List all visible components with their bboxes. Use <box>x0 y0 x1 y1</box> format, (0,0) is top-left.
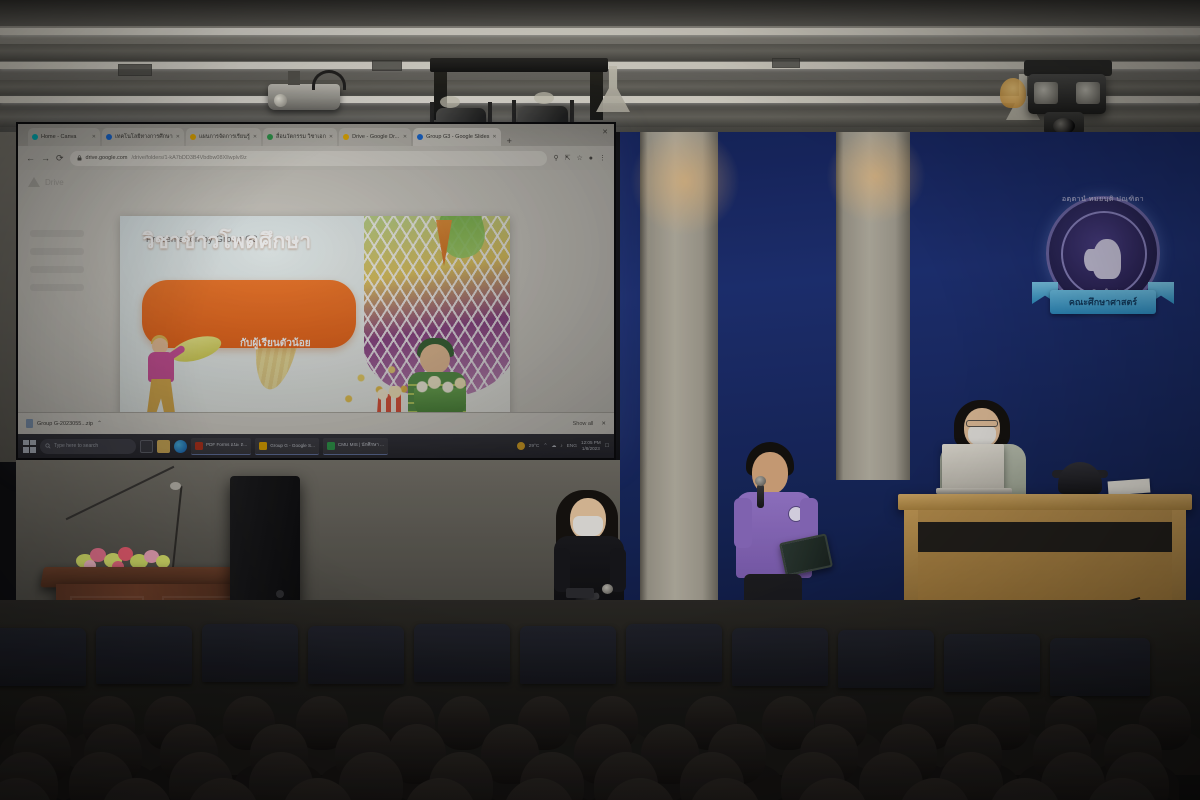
reload-icon[interactable]: ⟳ <box>56 153 64 164</box>
auditorium-scene: อตฺตานํ ทมยนฺติ ปณฺฑิตา มหาวิทยาลัยเชียง… <box>0 0 1200 800</box>
auditorium-seat <box>944 634 1040 692</box>
ceiling-vent <box>772 58 800 68</box>
windows-taskbar[interactable]: Type here to search PDF Forms แนะ ถ...Gr… <box>18 434 614 458</box>
show-all-downloads-button[interactable]: Show all <box>573 421 594 427</box>
desk-top <box>898 494 1192 510</box>
file-explorer-icon[interactable] <box>157 440 170 453</box>
ceiling-vent <box>372 60 402 71</box>
left-wall-edge <box>0 132 16 462</box>
browser-tab[interactable]: Group G3 - Google Slides✕ <box>413 128 501 146</box>
taskbar-app-button[interactable]: PDF Forms แนะ ถ... <box>191 438 251 455</box>
close-tab-icon[interactable]: ✕ <box>329 134 333 140</box>
cable-coil <box>440 96 460 108</box>
system-tray[interactable]: 29°C ⌃ ☁ ♪ ENG 12:05 PM 1/8/2023 ☐ <box>517 440 609 451</box>
camera-panel-right <box>1076 82 1100 104</box>
lock-icon <box>77 155 82 161</box>
search-placeholder: Type here to search <box>54 443 98 449</box>
sidebar-placeholder-row <box>30 248 84 255</box>
papers-stack <box>1108 479 1151 496</box>
banner-label: คณะศึกษาศาสตร์ <box>1050 295 1156 309</box>
network-icon[interactable]: ☁ <box>551 444 556 449</box>
presenter-male-microphone <box>757 484 764 508</box>
clock-date: 1/8/2023 <box>581 446 601 452</box>
star-icon[interactable]: ☆ <box>576 154 582 162</box>
weather-sun-icon[interactable] <box>517 442 525 450</box>
drive-page: Drive Presentation by Group G3 วิชาข้าวโ… <box>18 170 614 446</box>
close-tab-icon[interactable]: ✕ <box>492 134 496 140</box>
tray-temperature: 29°C <box>529 444 540 449</box>
ceiling-shadow-band <box>0 0 1200 26</box>
presenter-female-arm-right <box>610 548 626 592</box>
browser-tabstrip[interactable]: Home - Canva✕เทคโนโลยีทางการศึกษา✕แผนการ… <box>18 124 614 146</box>
ptz-camera-body <box>1028 74 1106 114</box>
close-tab-icon[interactable]: ✕ <box>403 134 407 140</box>
taskbar-app-button[interactable]: CMU MIS | นักศึกษา ... <box>323 438 388 455</box>
presenter-male-arm-left <box>734 498 752 548</box>
emblem-banner: คณะศึกษาศาสตร์ <box>1032 282 1174 316</box>
camera-panel-left <box>1034 82 1058 104</box>
lighting-truss <box>430 58 608 72</box>
edge-icon[interactable] <box>174 440 187 453</box>
projection-screen: Home - Canva✕เทคโนโลยีทางการศึกษา✕แผนการ… <box>18 124 614 458</box>
sidebar-placeholder-row <box>30 284 84 291</box>
tab-favicon-icon <box>106 134 112 140</box>
instructor-face-mask <box>968 426 996 445</box>
forward-icon[interactable]: → <box>41 153 50 163</box>
browser-tab-label: Group G3 - Google Slides <box>426 134 489 140</box>
tab-favicon-icon <box>343 134 349 140</box>
cable-coil <box>534 92 554 104</box>
truss-drop-right <box>590 72 603 120</box>
ceiling-vent <box>118 64 152 76</box>
browser-tab[interactable]: Drive - Google Dr...✕ <box>339 128 411 146</box>
pilaster-light-glow <box>826 128 926 224</box>
presenter-female-mic-head-icon <box>602 584 613 594</box>
browser-tab[interactable]: แผนการจัดการเรียนรู้✕ <box>186 128 261 146</box>
search-input[interactable]: Type here to search <box>40 439 136 454</box>
browser-tab-label: เทคโนโลยีทางการศึกษา <box>115 133 173 141</box>
chevron-up-icon[interactable]: ⌃ <box>543 444 547 449</box>
start-icon[interactable] <box>23 440 36 453</box>
omnibox[interactable]: drive.google.com/drive/folders/1-kA7bDD3… <box>70 151 548 166</box>
auditorium-seat <box>96 626 192 684</box>
popcorn-pile <box>412 376 468 394</box>
action-center-icon[interactable]: ☐ <box>605 444 609 449</box>
auditorium-seat <box>838 630 934 688</box>
taskbar-app-list[interactable]: PDF Forms แนะ ถ...Group G - Google S...C… <box>191 438 388 455</box>
browser-tab-label: สื่อนวัตกรรม วิชาเอก <box>276 133 326 141</box>
browser-tab[interactable]: เทคโนโลยีทางการศึกษา✕ <box>102 128 184 146</box>
download-item[interactable]: Group G-2023055...zip ⌃ <box>26 419 102 428</box>
projection-screen-frame: Home - Canva✕เทคโนโลยีทางการศึกษา✕แผนการ… <box>16 122 616 460</box>
taskbar-app-button[interactable]: Group G - Google S... <box>255 438 319 455</box>
tray-language[interactable]: ENG <box>567 444 577 449</box>
chevron-up-icon[interactable]: ⌃ <box>97 420 102 427</box>
new-tab-button[interactable]: + <box>503 136 516 146</box>
menu-icon[interactable]: ⋮ <box>599 154 606 162</box>
auditorium-seat <box>626 624 722 682</box>
tab-favicon-icon <box>190 134 196 140</box>
browser-tab[interactable]: Home - Canva✕ <box>28 128 100 146</box>
taskbar-app-label: Group G - Google S... <box>270 443 315 448</box>
back-icon[interactable]: ← <box>26 153 35 163</box>
tab-favicon-icon <box>267 134 273 140</box>
drive-app-name: Drive <box>45 178 64 187</box>
desk-inset-upper <box>916 522 1174 552</box>
audience-area <box>0 600 1200 800</box>
pilaster-light-glow <box>630 126 740 236</box>
taskbar-app-label: CMU MIS | นักศึกษา ... <box>338 442 384 449</box>
sidebar-placeholder-row <box>30 230 84 237</box>
sidebar-placeholder-row <box>30 266 84 273</box>
auditorium-seat <box>308 626 404 684</box>
university-emblem: อตฺตานํ ทมยนฺติ ปณฺฑิตา มหาวิทยาลัยเชียง… <box>1032 196 1174 316</box>
presenter-female-notes <box>566 588 594 598</box>
taskbar-app-icon <box>259 442 267 450</box>
share-icon[interactable]: ⇱ <box>565 154 571 162</box>
eater-head <box>420 344 450 374</box>
search-icon <box>45 443 51 449</box>
presenter-female-face-mask <box>573 516 603 536</box>
taskbar-app-icon <box>327 442 335 450</box>
auditorium-seat <box>520 626 616 684</box>
search-icon[interactable]: ⚲ <box>553 154 558 162</box>
browser-urlbar: ← → ⟳ drive.google.com/drive/folders/1-k… <box>18 146 614 170</box>
slide-title: วิชาข้าวโพดศึกษา <box>120 225 334 258</box>
window-close-button[interactable]: ✕ <box>602 128 608 136</box>
presenter-male-mic-head-icon <box>755 476 766 486</box>
close-tab-icon[interactable]: ✕ <box>176 134 180 140</box>
auditorium-seat <box>202 624 298 682</box>
emblem-motto-top: อตฺตานํ ทมยนฺติ ปณฺฑิตา <box>1032 194 1174 205</box>
close-tab-icon[interactable]: ✕ <box>92 134 96 140</box>
laptop-screen[interactable] <box>942 444 1004 490</box>
tab-favicon-icon <box>32 134 38 140</box>
popcorn-box-kernels <box>374 386 408 400</box>
instructor-glasses-icon <box>966 420 998 427</box>
presenter-female-arm-left <box>554 548 570 592</box>
browser-tab-label: แผนการจัดการเรียนรู้ <box>199 133 250 141</box>
omnibox-host: drive.google.com <box>86 155 128 161</box>
browser-tab[interactable]: สื่อนวัตกรรม วิชาเอก✕ <box>263 128 337 146</box>
zip-file-icon <box>26 419 33 428</box>
download-shelf-actions: Show all ✕ <box>573 421 606 427</box>
browser-chrome: Home - Canva✕เทคโนโลยีทางการศึกษา✕แผนการ… <box>18 124 614 170</box>
volume-icon[interactable]: ♪ <box>560 444 562 449</box>
floor-pa-speaker <box>230 476 300 608</box>
slide-subtitle: กับผู้เรียนตัวน้อย <box>240 336 410 351</box>
browser-tab-label: Drive - Google Dr... <box>352 134 399 140</box>
podium-microphone-icon <box>170 482 181 490</box>
auditorium-seat <box>732 628 828 686</box>
drive-logo-icon <box>28 177 40 187</box>
presentation-slide[interactable]: Presentation by Group G3 วิชาข้าวโพดศึกษ… <box>120 216 510 432</box>
close-download-shelf-button[interactable]: ✕ <box>601 421 606 427</box>
close-tab-icon[interactable]: ✕ <box>253 134 257 140</box>
profile-icon[interactable]: ● <box>589 155 593 162</box>
projector-lens-icon <box>274 94 287 107</box>
ceiling-light-strip <box>0 28 1200 35</box>
taskbar-app-icon <box>195 442 203 450</box>
warm-lamp-icon <box>1000 78 1026 108</box>
auditorium-seat <box>414 624 510 682</box>
browser-tab-label: Home - Canva <box>41 134 76 140</box>
auditorium-seat <box>1050 638 1150 696</box>
task-view-icon[interactable] <box>140 440 153 453</box>
tab-favicon-icon <box>417 134 423 140</box>
omnibox-path: /drive/folders/1-kA7bDD3B4Vbdbw08Xllwplv… <box>131 155 246 161</box>
taskbar-app-label: PDF Forms แนะ ถ... <box>206 442 247 449</box>
white-elephant-icon <box>1093 239 1121 279</box>
download-file-name: Group G-2023055...zip <box>37 421 93 427</box>
clock[interactable]: 12:05 PM 1/8/2023 <box>581 440 601 451</box>
drive-header: Drive <box>28 177 64 187</box>
download-shelf[interactable]: Group G-2023055...zip ⌃ Show all ✕ <box>18 412 614 434</box>
auditorium-seat <box>0 628 86 686</box>
